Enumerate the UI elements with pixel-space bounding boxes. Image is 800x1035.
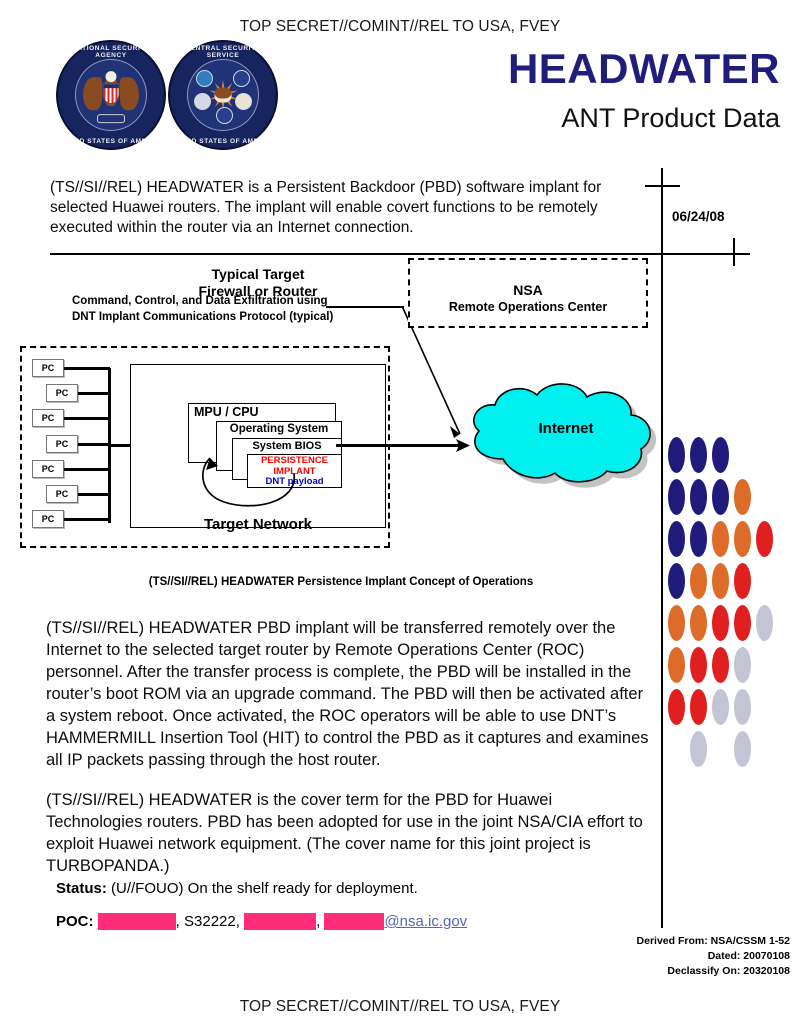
- decorative-oval: [712, 521, 729, 557]
- horizontal-rule: [50, 253, 750, 255]
- decorative-oval: [734, 647, 751, 683]
- operating-system-label: Operating System: [216, 423, 342, 435]
- roc-title: NSA: [408, 282, 648, 300]
- service-emblem-icon: [216, 107, 233, 124]
- pc-node: PC: [46, 384, 78, 402]
- document-page: TOP SECRET//COMINT//REL TO USA, FVEY NAT…: [0, 0, 800, 1035]
- service-emblem-icon: [233, 70, 250, 87]
- tick-mark-upper: [645, 185, 680, 187]
- target-network-label: Target Network: [130, 516, 386, 533]
- eagle-icon: [83, 68, 139, 124]
- decorative-oval: [690, 605, 707, 641]
- pc-node: PC: [46, 485, 78, 503]
- router-to-internet-link: [336, 444, 466, 447]
- decorative-oval: [690, 563, 707, 599]
- decorative-oval: [690, 647, 707, 683]
- decorative-oval: [734, 479, 751, 515]
- date-stamp: 06/24/08: [672, 209, 725, 224]
- decorative-oval: [734, 605, 751, 641]
- decorative-oval: [734, 689, 751, 725]
- pc-node: PC: [32, 460, 64, 478]
- decorative-oval: [690, 731, 707, 767]
- decorative-oval: [668, 521, 685, 557]
- intro-paragraph: (TS//SI//REL) HEADWATER is a Persistent …: [50, 178, 650, 237]
- nsa-seal-arc-top: NATIONAL SECURITY AGENCY: [56, 45, 166, 59]
- page-subtitle: ANT Product Data: [330, 103, 780, 134]
- decorative-oval: [712, 479, 729, 515]
- decorative-oval: [668, 437, 685, 473]
- status-label: Status:: [56, 880, 107, 897]
- decorative-oval: [712, 647, 729, 683]
- css-seal: CENTRAL SECURITY SERVICE UNITED STATES O…: [168, 40, 278, 150]
- decorative-oval: [756, 605, 773, 641]
- decorative-oval: [712, 563, 729, 599]
- dated-line: Dated: 20070108: [540, 949, 790, 964]
- service-emblem-icon: [235, 93, 252, 110]
- poc-segment-2: ,: [316, 913, 324, 930]
- callout-leader-line: [326, 306, 404, 308]
- router-title: Typical Target Firewall or Router: [130, 266, 386, 299]
- decorative-oval: [712, 605, 729, 641]
- service-emblem-icon: [196, 70, 213, 87]
- concept-of-operations-diagram: Command, Control, and Data Exfiltration …: [16, 258, 666, 588]
- poc-line: POC: , S32222, , @nsa.ic.gov: [56, 913, 467, 930]
- poc-label: POC:: [56, 913, 94, 930]
- star-icon: [194, 66, 252, 124]
- body-paragraph-2: (TS//SI//REL) HEADWATER is the cover ter…: [46, 790, 650, 878]
- decorative-oval: [690, 521, 707, 557]
- derived-from-block: Derived From: NSA/CSSM 1-52 Dated: 20070…: [540, 934, 790, 979]
- roc-subtitle: Remote Operations Center: [408, 300, 648, 316]
- nsa-roc-label: NSA Remote Operations Center: [408, 282, 648, 315]
- status-line: Status: (U//FOUO) On the shelf ready for…: [56, 880, 418, 897]
- decorative-oval: [712, 689, 729, 725]
- decorative-oval: [668, 647, 685, 683]
- classification-banner-top: TOP SECRET//COMINT//REL TO USA, FVEY: [0, 18, 800, 36]
- css-seal-arc-top: CENTRAL SECURITY SERVICE: [168, 45, 278, 59]
- decorative-oval: [734, 731, 751, 767]
- declassify-on-line: Declassify On: 20320108: [540, 964, 790, 979]
- redaction-bar-3: [324, 913, 384, 930]
- tick-mark-lower: [733, 238, 735, 266]
- persistence-arrow-icon: [176, 436, 306, 516]
- pc-node: PC: [32, 510, 64, 528]
- css-seal-arc-bottom: UNITED STATES OF AMERICA: [168, 138, 278, 145]
- internet-arrowhead-icon: [454, 436, 474, 456]
- redaction-bar-1: [98, 913, 176, 930]
- pc-node: PC: [46, 435, 78, 453]
- nsa-seal: NATIONAL SECURITY AGENCY UNITED STATES O…: [56, 40, 166, 150]
- pc-link: [64, 468, 110, 471]
- status-value: (U//FOUO) On the shelf ready for deploym…: [111, 880, 418, 897]
- decorative-oval: [734, 563, 751, 599]
- poc-email-link[interactable]: @nsa.ic.gov: [384, 913, 467, 930]
- pc-link: [78, 392, 110, 395]
- pc-link: [78, 493, 110, 496]
- decorative-oval: [668, 479, 685, 515]
- center-eagle-icon: [215, 88, 232, 103]
- pc-link: [64, 417, 110, 420]
- poc-segment-1: , S32222,: [176, 913, 244, 930]
- diagram-caption: (TS//SI//REL) HEADWATER Persistence Impl…: [16, 576, 666, 588]
- mpu-cpu-label: MPU / CPU: [188, 405, 259, 419]
- pc-node: PC: [32, 409, 64, 427]
- pc-link: [64, 367, 110, 370]
- decorative-oval: [668, 689, 685, 725]
- derived-from-line: Derived From: NSA/CSSM 1-52: [540, 934, 790, 949]
- pc-link: [64, 518, 110, 521]
- decorative-oval: [712, 437, 729, 473]
- body-paragraph-1: (TS//SI//REL) HEADWATER PBD implant will…: [46, 618, 650, 772]
- oval-decoration-grid: [668, 437, 798, 767]
- decorative-oval: [690, 689, 707, 725]
- redaction-bar-2: [244, 913, 316, 930]
- service-emblem-icon: [194, 93, 211, 110]
- decorative-oval: [690, 479, 707, 515]
- pc-link: [78, 443, 110, 446]
- pc-node: PC: [32, 359, 64, 377]
- decorative-oval: [756, 521, 773, 557]
- decorative-oval: [734, 521, 751, 557]
- internet-label: Internet: [456, 420, 676, 437]
- nsa-seal-arc-bottom: UNITED STATES OF AMERICA: [56, 138, 166, 145]
- decorative-oval: [690, 437, 707, 473]
- decorative-oval: [668, 563, 685, 599]
- page-title: HEADWATER: [330, 48, 780, 90]
- decorative-oval: [668, 605, 685, 641]
- classification-banner-bottom: TOP SECRET//COMINT//REL TO USA, FVEY: [0, 998, 800, 1016]
